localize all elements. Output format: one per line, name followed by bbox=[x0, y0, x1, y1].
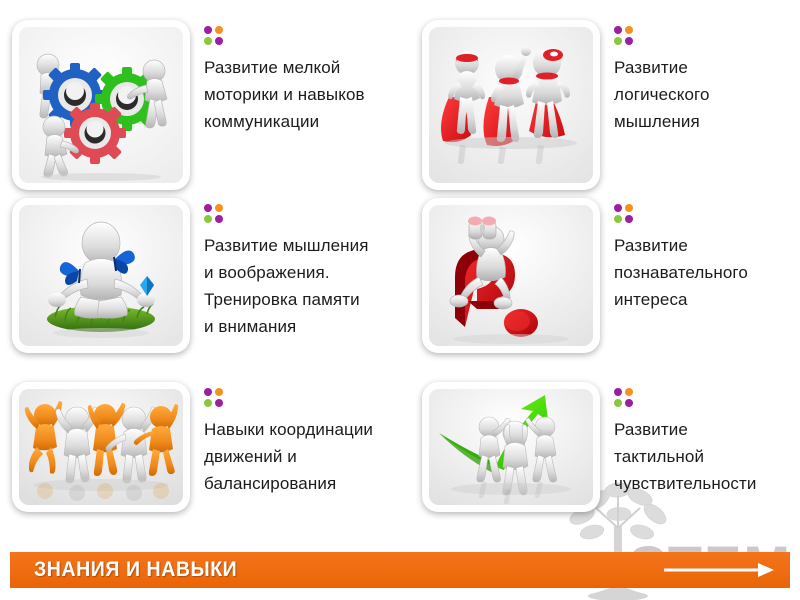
card-thumbnail-frame bbox=[422, 20, 600, 190]
slide-canvas: СТЕМ bbox=[0, 0, 800, 600]
dot-top-right bbox=[625, 26, 633, 34]
bullet-dots-icon bbox=[614, 388, 633, 407]
card-text-block: Навыки координации движений и балансиров… bbox=[190, 382, 400, 497]
bullet-dots-icon bbox=[614, 26, 633, 45]
card-text-block: Развитие логического мышления bbox=[600, 20, 800, 135]
card-caption: Развитие логического мышления bbox=[614, 54, 800, 135]
binoculars-question-mark-illustration bbox=[429, 205, 593, 346]
dot-bottom-right bbox=[215, 215, 223, 223]
dot-top-right bbox=[215, 204, 223, 212]
dot-bottom-left bbox=[614, 37, 622, 45]
card-caption: Развитие познавательного интереса bbox=[614, 232, 800, 313]
card-text-block: Развитие мышления и воображения. Трениро… bbox=[190, 198, 400, 340]
dot-top-right bbox=[215, 26, 223, 34]
bottom-banner: ЗНАНИЯ И НАВЫКИ bbox=[10, 552, 790, 588]
card-thumbnail-frame bbox=[422, 382, 600, 512]
card-thumbnail-frame bbox=[12, 198, 190, 353]
dot-top-left bbox=[614, 388, 622, 396]
feature-card-logical-thinking[interactable]: Развитие логического мышления bbox=[422, 20, 800, 190]
dot-bottom-right bbox=[625, 37, 633, 45]
dot-bottom-left bbox=[614, 399, 622, 407]
dot-bottom-right bbox=[215, 37, 223, 45]
gears-teamwork-illustration bbox=[19, 27, 183, 183]
dot-bottom-right bbox=[215, 399, 223, 407]
meditation-butterflies-illustration bbox=[19, 205, 183, 346]
jumping-people-illustration bbox=[19, 389, 183, 505]
bullet-dots-icon bbox=[204, 204, 223, 223]
dot-top-right bbox=[625, 204, 633, 212]
dot-bottom-left bbox=[614, 215, 622, 223]
feature-card-cognitive-interest[interactable]: Развитие познавательного интереса bbox=[422, 198, 800, 353]
bullet-dots-icon bbox=[204, 388, 223, 407]
bullet-dots-icon bbox=[614, 204, 633, 223]
dot-top-right bbox=[215, 388, 223, 396]
superheroes-illustration bbox=[429, 27, 593, 183]
feature-card-coordination[interactable]: Навыки координации движений и балансиров… bbox=[12, 382, 400, 512]
bullet-dots-icon bbox=[204, 26, 223, 45]
dot-bottom-left bbox=[204, 215, 212, 223]
card-caption: Развитие мышления и воображения. Трениро… bbox=[204, 232, 400, 340]
dot-top-left bbox=[614, 204, 622, 212]
card-thumbnail-frame bbox=[12, 20, 190, 190]
card-caption: Развитие тактильной чувствительности bbox=[614, 416, 800, 497]
feature-card-tactile[interactable]: Развитие тактильной чувствительности bbox=[422, 382, 800, 512]
card-text-block: Развитие познавательного интереса bbox=[600, 198, 800, 313]
arrow-right-icon bbox=[664, 562, 776, 578]
dot-top-left bbox=[614, 26, 622, 34]
dot-top-left bbox=[204, 388, 212, 396]
feature-card-thinking-imagination[interactable]: Развитие мышления и воображения. Трениро… bbox=[12, 198, 400, 353]
card-caption: Развитие мелкой моторики и навыков комму… bbox=[204, 54, 400, 135]
dot-top-right bbox=[625, 388, 633, 396]
dot-top-left bbox=[204, 204, 212, 212]
dot-bottom-right bbox=[625, 215, 633, 223]
dot-bottom-left bbox=[204, 37, 212, 45]
card-thumbnail-frame bbox=[422, 198, 600, 353]
card-text-block: Развитие мелкой моторики и навыков комму… bbox=[190, 20, 400, 135]
dot-top-left bbox=[204, 26, 212, 34]
card-caption: Навыки координации движений и балансиров… bbox=[204, 416, 400, 497]
feature-card-grid: Развитие мелкой моторики и навыков комму… bbox=[0, 0, 800, 545]
dot-bottom-right bbox=[625, 399, 633, 407]
feature-card-fine-motor[interactable]: Развитие мелкой моторики и навыков комму… bbox=[12, 20, 400, 190]
green-arrow-teamwork-illustration bbox=[429, 389, 593, 505]
card-thumbnail-frame bbox=[12, 382, 190, 512]
banner-title: ЗНАНИЯ И НАВЫКИ bbox=[34, 558, 237, 582]
card-text-block: Развитие тактильной чувствительности bbox=[600, 382, 800, 497]
dot-bottom-left bbox=[204, 399, 212, 407]
